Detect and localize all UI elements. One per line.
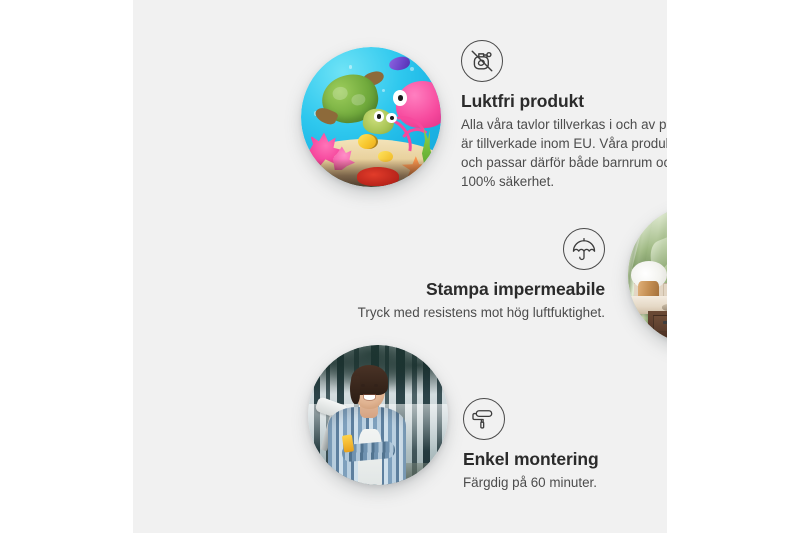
underwater-cartoon-photo <box>301 47 441 187</box>
feature-icon-wrap <box>461 40 667 82</box>
feature-icon-wrap <box>463 398 667 440</box>
feature-title: Luktfri produkt <box>461 91 667 111</box>
feature-icon-wrap <box>315 228 605 270</box>
woman-hair <box>350 376 360 404</box>
feature-description: Färgdig på 60 minuter. <box>463 473 667 492</box>
feature-title: Stampa impermeabile <box>315 279 605 299</box>
turtle-eye <box>386 113 397 124</box>
no-perfume-icon <box>461 40 503 82</box>
feature-easy-mounting: Enkel montering Färgdig på 60 minuter. <box>463 398 667 492</box>
bubble-icon <box>349 65 353 69</box>
paint-roller-icon <box>463 398 505 440</box>
turtle-eye <box>374 111 385 122</box>
woman-paint-roller-forest-photo <box>308 345 448 485</box>
yellow-fish-icon <box>358 134 378 149</box>
feature-description: Alla våra tavlor tillverkas i och av pro… <box>461 115 667 191</box>
feature-title: Enkel montering <box>463 449 667 469</box>
feature-waterproof-print: Stampa impermeabile Tryck med resistens … <box>315 228 605 322</box>
bathroom-botanical-wallpaper-photo <box>628 205 667 345</box>
promo-graphic: Luktfri produkt Alla våra tavlor tillver… <box>0 0 800 533</box>
wooden-vanity-cabinet <box>648 311 667 345</box>
content-panel: Luktfri produkt Alla våra tavlor tillver… <box>133 0 667 533</box>
feature-odour-free: Luktfri produkt Alla våra tavlor tillver… <box>461 40 667 191</box>
umbrella-icon <box>563 228 605 270</box>
photo-bottom-red-object <box>357 167 399 185</box>
feature-description: Tryck med resistens mot hög luftfuktighe… <box>315 303 605 322</box>
